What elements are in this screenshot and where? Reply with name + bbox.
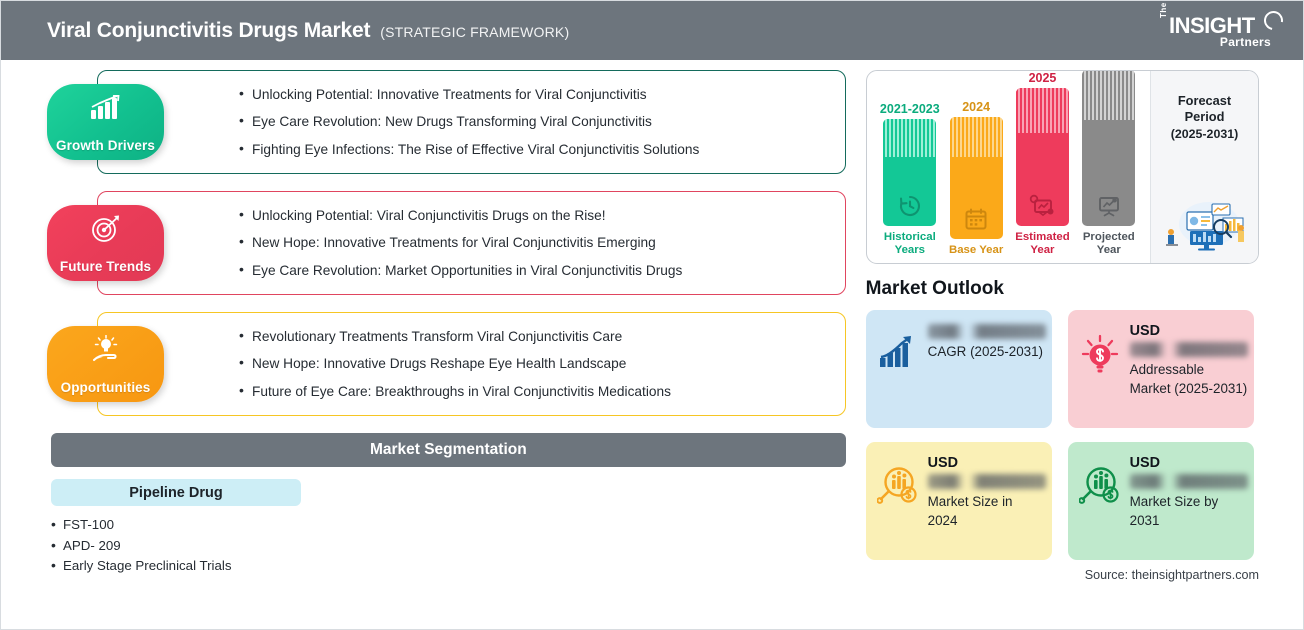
outlook-card-value: lorem ipsum: [928, 324, 1046, 339]
market-outlook-cards: lorem ipsum CAGR (2025-2031): [866, 310, 1259, 560]
bar-column-estimated: 2025: [1013, 71, 1071, 257]
magnifier-chart-dollar-icon: [876, 454, 920, 506]
monitor-chart-icon: [1096, 194, 1122, 218]
bar-historical: [883, 119, 936, 226]
badge-label-opportunities: Opportunities: [61, 380, 151, 395]
settings-analytics-icon: [1029, 194, 1055, 218]
bar-stripe-section: [883, 119, 936, 157]
logo-the-text: The: [1159, 2, 1168, 18]
outlook-card-label: Market Size in 2024: [928, 492, 1046, 530]
list-item: FST-100: [51, 515, 862, 536]
calendar-icon: [964, 207, 988, 231]
outlook-card-market-size-2031[interactable]: USD lorem ipsum Market Size by 2031: [1068, 442, 1254, 560]
segment-chip-pipeline-drug[interactable]: Pipeline Drug: [51, 479, 301, 506]
outlook-card-label: CAGR (2025-2031): [928, 342, 1046, 361]
badge-label-future-trends: Future Trends: [60, 259, 151, 274]
timeline-bar-chart: 2021-2023 Historical Years: [867, 71, 1150, 263]
badge-opportunities[interactable]: Opportunities: [47, 326, 164, 402]
bar-chart-growth-icon: [47, 93, 164, 123]
segment-item-list: FST-100 APD- 209 Early Stage Preclinical…: [51, 515, 862, 577]
lightbulb-hand-icon: [47, 335, 164, 365]
outlook-card-label: Market Size by 2031: [1130, 492, 1248, 530]
badge-growth-drivers[interactable]: Growth Drivers: [47, 84, 164, 160]
target-dart-icon: [47, 214, 164, 244]
outlook-card-value: lorem ipsum: [1130, 342, 1248, 357]
outlook-card-addressable-market[interactable]: USD lorem ipsum Addressable Market (2025…: [1068, 310, 1254, 428]
infographic-page: Viral Conjunctivitis Drugs Market (STRAT…: [0, 0, 1304, 630]
list-item: Unlocking Potential: Innovative Treatmen…: [239, 87, 840, 102]
badge-label-growth-drivers: Growth Drivers: [56, 138, 155, 153]
forecast-timeline-panel: 2021-2023 Historical Years: [866, 70, 1259, 264]
badge-future-trends[interactable]: Future Trends: [47, 205, 164, 281]
outlook-card-cagr[interactable]: lorem ipsum CAGR (2025-2031): [866, 310, 1052, 428]
list-item: Revolutionary Treatments Transform Viral…: [239, 329, 840, 344]
bar-caption: Base Year: [949, 244, 1003, 257]
list-growth-drivers: Unlocking Potential: Innovative Treatmen…: [239, 70, 840, 174]
bar-year-label: 2021-2023: [880, 102, 940, 116]
outlook-card-usd: USD: [1130, 322, 1248, 340]
outlook-card-label: Addressable Market (2025-2031): [1130, 360, 1248, 398]
market-segmentation-title: Market Segmentation: [370, 441, 527, 459]
bar-estimated: [1016, 88, 1069, 226]
forecast-period-panel: Forecast Period (2025-2031): [1150, 71, 1258, 263]
outlook-card-usd: USD: [1130, 454, 1248, 472]
pillar-future-trends: Future Trends Unlocking Potential: Viral…: [47, 191, 862, 295]
market-outlook-title: Market Outlook: [866, 278, 1259, 300]
bar-caption: Historical Years: [881, 231, 939, 257]
list-opportunities: Revolutionary Treatments Transform Viral…: [239, 312, 840, 416]
bar-caption: Projected Year: [1080, 231, 1138, 257]
list-item: New Hope: Innovative Drugs Reshape Eye H…: [239, 356, 840, 371]
outlook-card-text: USD lorem ipsum Addressable Market (2025…: [1130, 322, 1248, 398]
outlook-card-text: USD lorem ipsum Market Size by 2031: [1130, 454, 1248, 530]
content-area: Growth Drivers Unlocking Potential: Inno…: [1, 60, 1303, 582]
pillar-growth-drivers: Growth Drivers Unlocking Potential: Inno…: [47, 70, 862, 174]
right-column: 2021-2023 Historical Years: [862, 70, 1303, 582]
magnifier-chart-dollar-icon: [1078, 454, 1122, 506]
bar-year-label: 2025: [1029, 71, 1057, 85]
outlook-card-text: USD lorem ipsum Market Size in 2024: [928, 454, 1046, 530]
bar-stripe-section: [1016, 88, 1069, 133]
page-header: Viral Conjunctivitis Drugs Market (STRAT…: [1, 1, 1303, 60]
list-item: Unlocking Potential: Viral Conjunctiviti…: [239, 208, 840, 223]
header-title-group: Viral Conjunctivitis Drugs Market (STRAT…: [47, 19, 569, 43]
market-segmentation-header: Market Segmentation: [51, 433, 846, 467]
bar-stripe-section: [1082, 70, 1135, 120]
outlook-card-value: lorem ipsum: [928, 474, 1046, 489]
list-item: Future of Eye Care: Breakthroughs in Vir…: [239, 384, 840, 399]
bar-caption: Estimated Year: [1013, 231, 1071, 257]
forecast-line-1: Forecast: [1178, 93, 1231, 109]
page-title: Viral Conjunctivitis Drugs Market: [47, 19, 370, 43]
forecast-years: (2025-2031): [1171, 127, 1239, 141]
outlook-card-market-size-2024[interactable]: USD lorem ipsum Market Size in 2024: [866, 442, 1052, 560]
outlook-card-text: lorem ipsum CAGR (2025-2031): [928, 322, 1046, 361]
bar-year-label: 2024: [962, 100, 990, 114]
list-item: Eye Care Revolution: Market Opportunitie…: [239, 263, 840, 278]
list-future-trends: Unlocking Potential: Viral Conjunctiviti…: [239, 191, 840, 295]
bar-column-projected: 2031 Pr: [1080, 70, 1138, 257]
outlook-card-usd: USD: [928, 454, 1046, 472]
outlook-card-value: lorem ipsum: [1130, 474, 1248, 489]
list-item: Fighting Eye Infections: The Rise of Eff…: [239, 142, 840, 157]
list-item: APD- 209: [51, 536, 862, 557]
logo-swoosh-icon: [1260, 7, 1286, 33]
forecast-line-2: Period: [1185, 109, 1225, 125]
list-item: New Hope: Innovative Treatments for Vira…: [239, 235, 840, 250]
bar-chart-arrow-icon: [876, 322, 920, 370]
history-clock-icon: [898, 194, 922, 218]
dashboard-analytics-illustration: [1157, 194, 1253, 257]
list-item: Early Stage Preclinical Trials: [51, 556, 862, 577]
page-subtitle: (STRATEGIC FRAMEWORK): [380, 24, 569, 40]
bar-stripe-section: [950, 117, 1003, 157]
bar-base: [950, 117, 1003, 239]
segment-chip-label: Pipeline Drug: [129, 485, 222, 501]
bar-projected: [1082, 70, 1135, 226]
pillar-opportunities: Opportunities Revolutionary Treatments T…: [47, 312, 862, 416]
list-item: Eye Care Revolution: New Drugs Transform…: [239, 114, 840, 129]
left-column: Growth Drivers Unlocking Potential: Inno…: [1, 70, 862, 582]
source-attribution: Source: theinsightpartners.com: [862, 568, 1259, 582]
logo-partners-text: Partners: [1220, 35, 1271, 49]
insight-partners-logo: The INSIGHT Partners: [1157, 9, 1285, 53]
bar-column-base: 2024: [947, 100, 1005, 257]
bar-column-historical: 2021-2023 Historical Years: [881, 102, 939, 257]
lightbulb-dollar-icon: [1078, 322, 1122, 376]
